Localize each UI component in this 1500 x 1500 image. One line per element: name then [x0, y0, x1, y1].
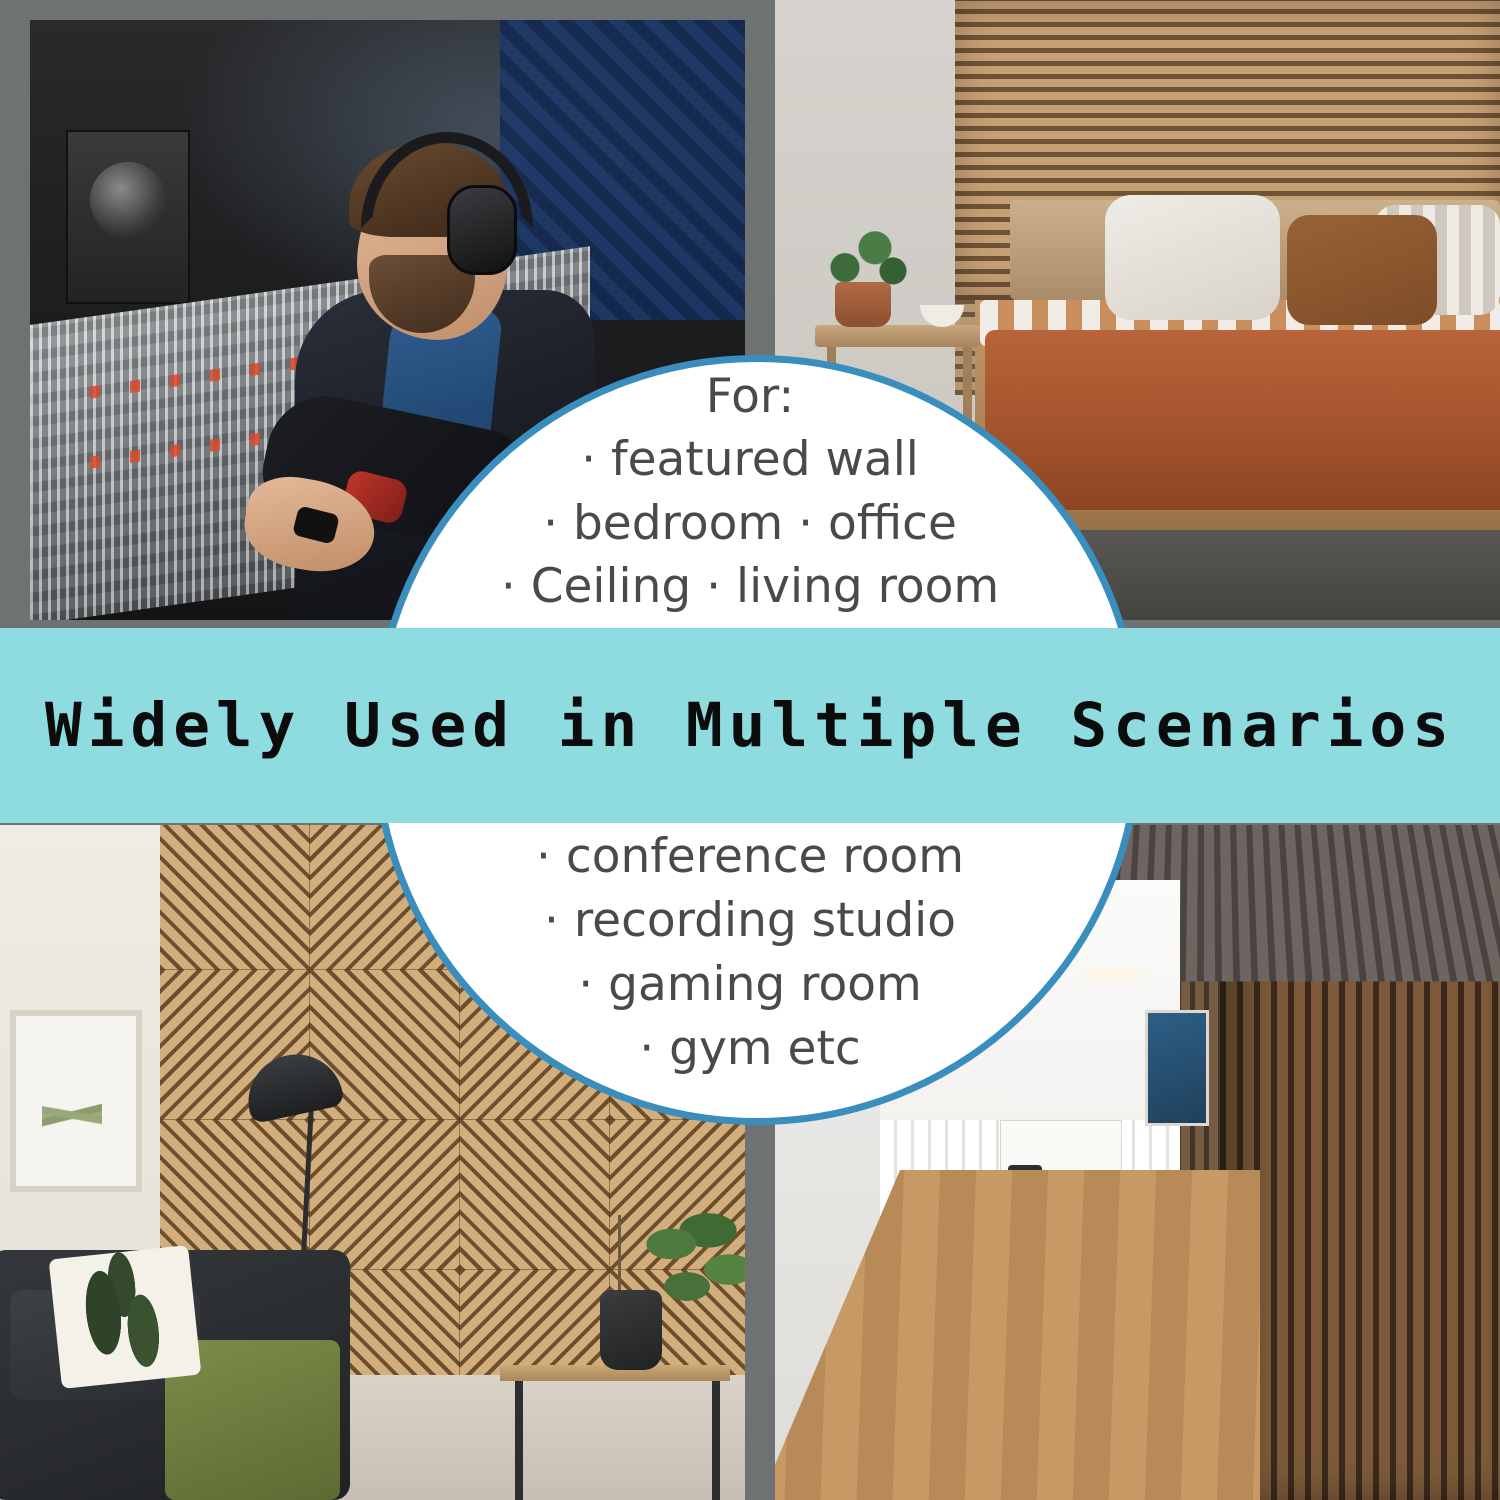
wall-art-frame — [10, 1010, 142, 1192]
patterned-cushion — [49, 1245, 202, 1389]
reed-diffuser-sticks — [618, 1215, 621, 1295]
nightstand-leg — [963, 347, 972, 422]
headline-text: Widely Used in Multiple Scenarios — [45, 690, 1455, 761]
side-table-leg — [712, 1381, 720, 1500]
headline-banner: Widely Used in Multiple Scenarios — [0, 628, 1500, 823]
slat-panel-cell — [460, 1120, 610, 1270]
hallway-wall-art — [1145, 1010, 1209, 1126]
slat-panel-cell — [460, 1270, 610, 1380]
headphones-earcup — [447, 185, 517, 275]
studio-monitor-speaker — [66, 130, 190, 304]
pillow-brown — [1287, 215, 1437, 325]
nightstand — [815, 325, 980, 347]
promo-image: Widely Used in Multiple Scenarios For: ·… — [0, 0, 1500, 1500]
plant-foliage — [815, 228, 915, 294]
side-table-leg — [515, 1381, 523, 1500]
pillow-cream — [1105, 195, 1280, 320]
slat-panel-cell — [310, 1120, 460, 1270]
bed-duvet — [985, 330, 1500, 510]
ceiling-spotlight — [1080, 968, 1150, 980]
slat-panel-cell — [160, 820, 310, 970]
diffuser-vase — [600, 1290, 662, 1370]
